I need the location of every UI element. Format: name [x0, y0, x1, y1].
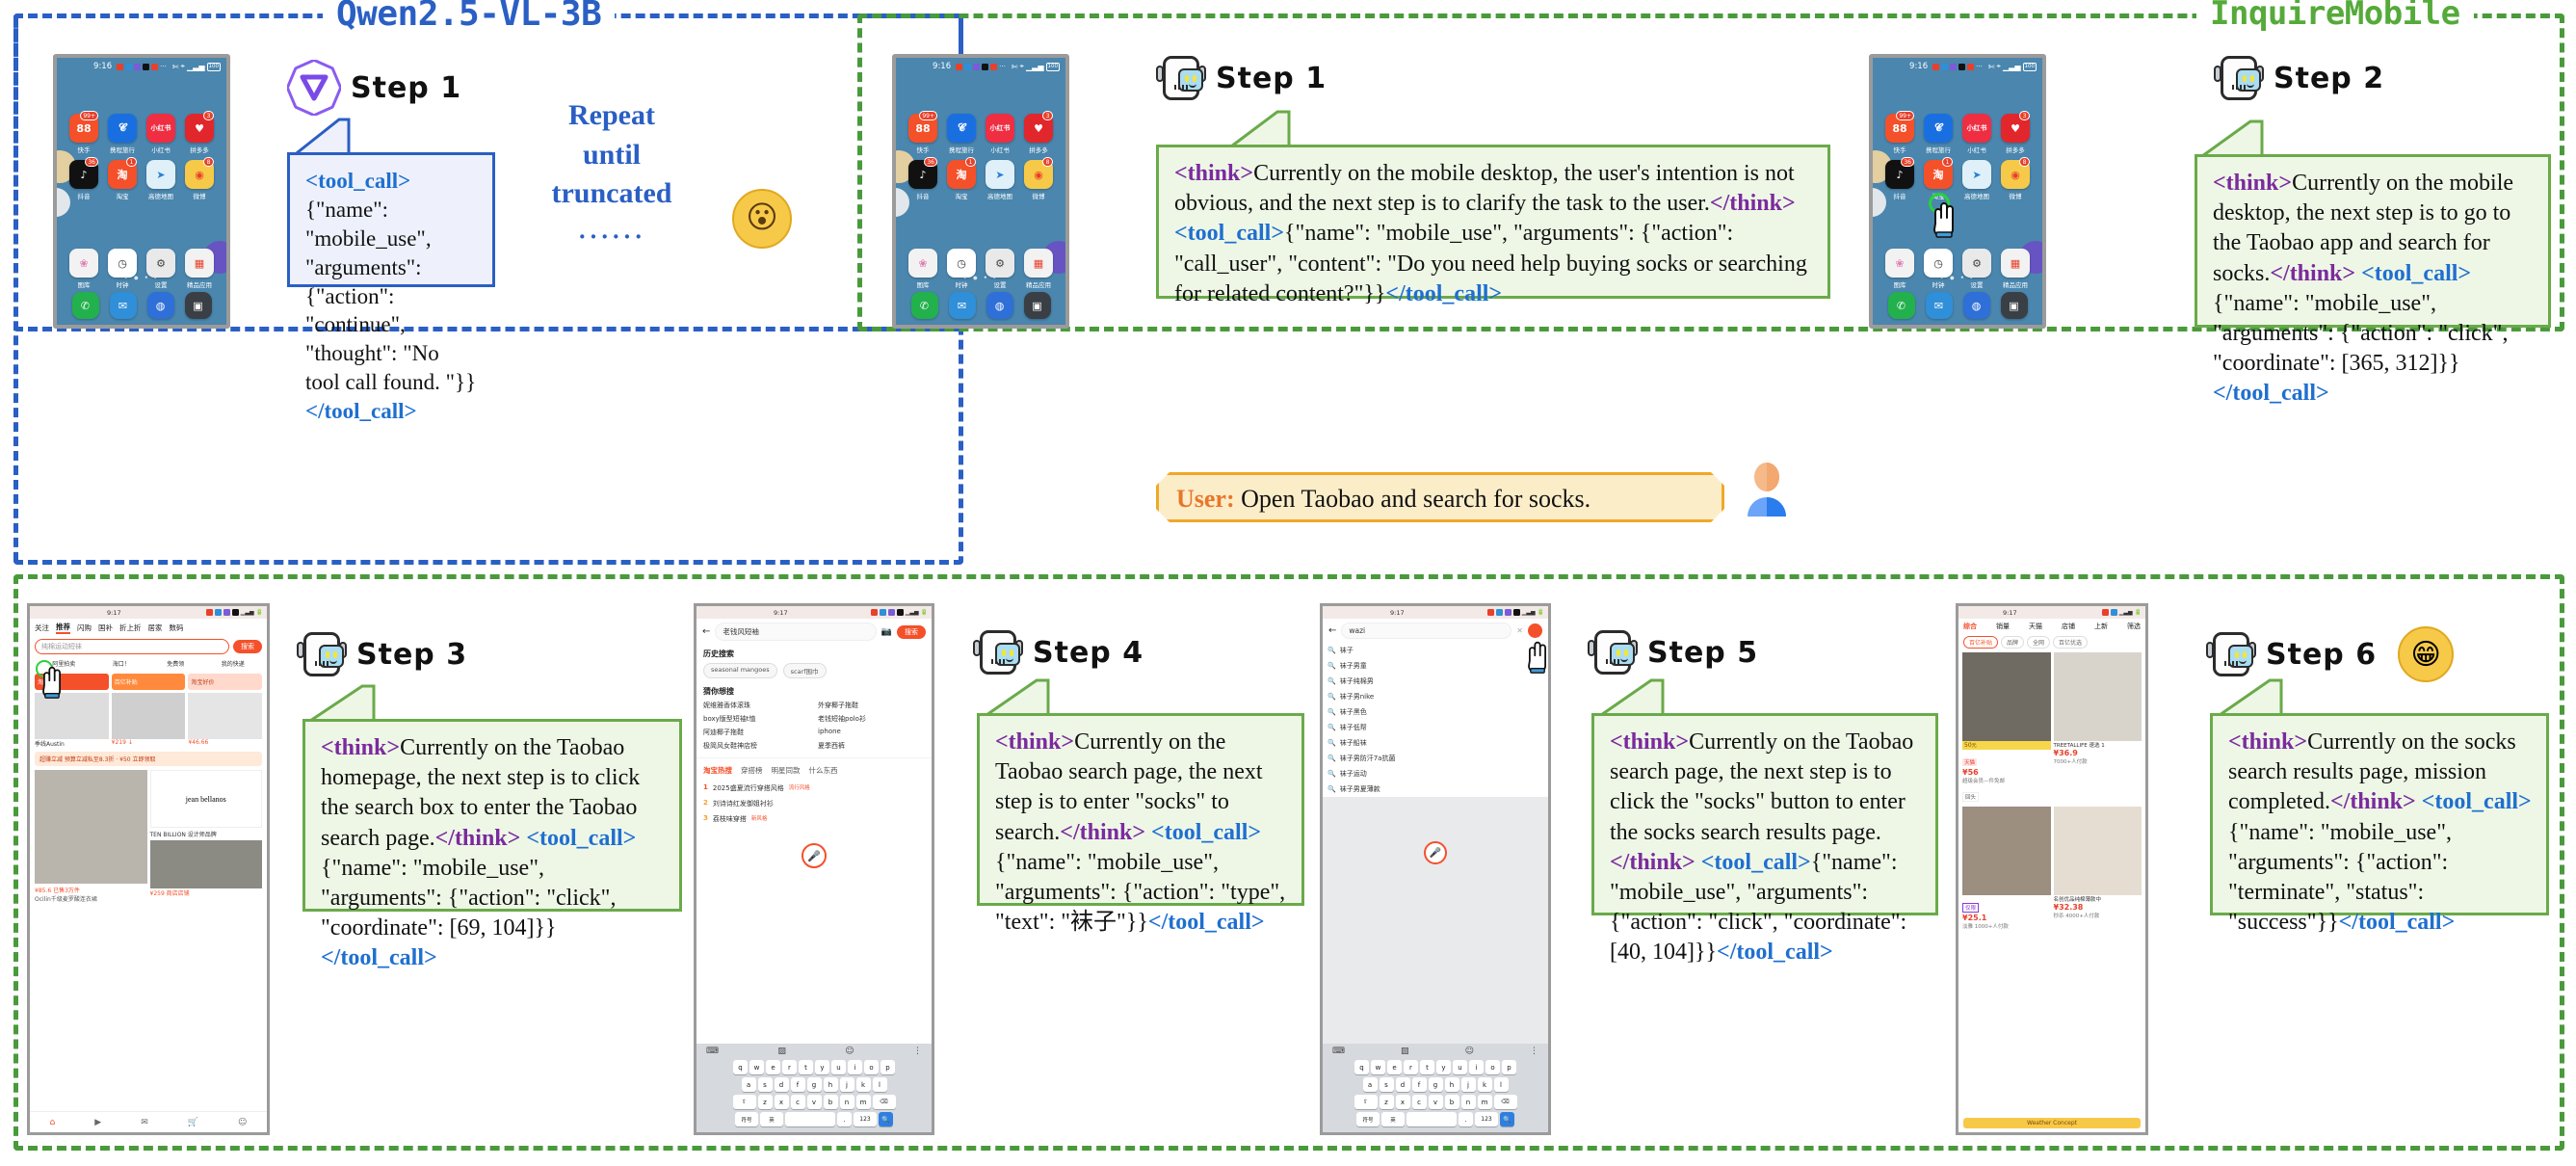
key-y[interactable]: y [815, 1060, 829, 1074]
key-p[interactable]: p [1502, 1060, 1516, 1074]
xiaohongshu-icon: 小红书 [146, 114, 175, 143]
search-icon: 🔍 [1327, 785, 1336, 793]
key-l[interactable]: l [873, 1077, 887, 1092]
filter-chip[interactable]: 全网 [2027, 636, 2050, 649]
kbd-row-4[interactable]: 符号 英 . 123 🔍 [1325, 1112, 1546, 1126]
guess-item[interactable]: 极简风女鞋神店榜 [703, 741, 810, 751]
product-card[interactable]: ¥46.66 [188, 693, 262, 748]
list-item[interactable]: 🔍袜子船袜 [1323, 735, 1548, 751]
key-q[interactable]: q [733, 1060, 748, 1074]
guess-title: 猜你想搜 [697, 680, 932, 699]
hot-item[interactable]: 2刘诗诗红发御姐衬衫 [703, 796, 925, 811]
app-icon-appstore[interactable]: ▦精品应用 [1998, 249, 2033, 289]
kbd-row-1[interactable]: qwertyuiop [698, 1060, 930, 1074]
key-y[interactable]: y [1436, 1060, 1451, 1074]
bubble-inquire-step-5: <think>Currently on the Taobao search pa… [1591, 713, 1938, 915]
search-icon: 🔍 [1327, 739, 1336, 747]
key-e[interactable]: e [1387, 1060, 1402, 1074]
app-icon-gallery[interactable]: ❀图库 [66, 249, 101, 289]
battery-level: 100 [1046, 63, 1061, 71]
tab-filter[interactable]: 筛选 [2127, 622, 2141, 631]
kbd-row-2[interactable]: asdfghjkl [698, 1077, 930, 1092]
kbd-row-2[interactable]: asdfghjkl [1325, 1077, 1546, 1092]
list-item[interactable]: 🔍袜子黑色 [1323, 704, 1548, 720]
tool-call-close-tag: </tool_call> [305, 399, 417, 423]
quick-link[interactable]: 免费领 [167, 659, 184, 668]
app-badge: 1 [965, 157, 976, 167]
key-c[interactable]: c [791, 1095, 805, 1109]
key-p[interactable]: p [881, 1060, 895, 1074]
key-period[interactable]: . [1459, 1112, 1473, 1126]
tab-intl[interactable]: 国补 [98, 623, 113, 633]
tab-follow[interactable]: 关注 [35, 623, 49, 633]
product-card[interactable]: TREETALLIFE 速选 1 ¥36.9 7000+人付款 [2054, 652, 2142, 803]
search-input[interactable]: 纯棉运动短袜 [35, 639, 229, 654]
list-item[interactable]: 🔍袜子运动 [1323, 766, 1548, 782]
app-badge: 36 [85, 157, 98, 167]
key-m[interactable]: m [856, 1095, 871, 1109]
app-icon-xiaohongshu[interactable]: 小红书小红书 [983, 114, 1017, 154]
key-space[interactable] [1406, 1112, 1457, 1126]
hot-list: 12025盛夏流行穿搭风格流行风格 2刘诗诗红发御姐衬衫 3荔枝味穿搭新风格 [697, 779, 932, 829]
search-header: ← 老钱风短袖 📷 搜索 [697, 619, 932, 645]
key-r[interactable]: r [782, 1060, 797, 1074]
step-label: Step 3 [356, 638, 467, 672]
list-item[interactable]: 🔍袜子男夏薄款 [1323, 782, 1548, 797]
results-grid-row1: 50元 天猫 ¥56 超级会员—件免邮 回头 TREETALLIFE 速选 1 … [1958, 650, 2145, 805]
app-grid-row2: ❀图库 ◷时钟 ⚙设置 ▦精品应用 [57, 241, 226, 297]
key-f[interactable]: f [1412, 1077, 1427, 1092]
kbd-row-1[interactable]: qwertyuiop [1325, 1060, 1546, 1074]
kbd-emoji-icon[interactable]: ☺ [1465, 1047, 1474, 1056]
think-open-tag: <think> [2213, 171, 2292, 196]
key-i[interactable]: i [848, 1060, 862, 1074]
think-open-tag: <think> [321, 735, 400, 760]
app-badge: 1 [1942, 157, 1953, 167]
kbd-row-3[interactable]: ⇧zxcvbnm⌫ [698, 1095, 930, 1109]
key-g[interactable]: g [807, 1077, 822, 1092]
key-o[interactable]: o [1485, 1060, 1500, 1074]
suggestion-text: 袜子运动 [1340, 769, 1367, 779]
product-card[interactable]: 名创优品纯棉薄款中 ¥32.38 秒杀 4000+人付款 [2054, 807, 2142, 930]
key-c[interactable]: c [1412, 1095, 1427, 1109]
key-symbols[interactable]: 符号 [735, 1112, 758, 1126]
key-r[interactable]: r [1404, 1060, 1418, 1074]
nav-message-icon[interactable]: ✉ [141, 1118, 148, 1127]
history-chips: seasonal mangoes scarf围巾 [697, 661, 932, 680]
search-icon: 🔍 [1327, 708, 1336, 716]
app-icon-pinduoduo[interactable]: ♥3拼多多 [1021, 114, 1056, 154]
camera-icon[interactable]: 📷 [881, 627, 892, 637]
status-time: 9:17 [107, 609, 121, 617]
key-n[interactable]: n [1461, 1095, 1476, 1109]
key-h[interactable]: h [824, 1077, 838, 1092]
key-shift[interactable]: ⇧ [1354, 1095, 1378, 1109]
key-w[interactable]: w [1371, 1060, 1385, 1074]
list-item[interactable]: 🔍袜子纯棉男 [1323, 674, 1548, 689]
suggestion-text: 袜子男nike [1340, 692, 1375, 702]
phone-status-bar: 9:17 ▁▃▅ 🔋 [30, 606, 267, 619]
app-icon-taobao[interactable]: 淘1淘宝 [105, 160, 140, 200]
think-close-tag: </think> [1060, 820, 1145, 845]
camera-icon[interactable]: ▣ [1024, 292, 1051, 319]
app-icon-clock[interactable]: ◷时钟 [1921, 249, 1956, 289]
key-g[interactable]: g [1429, 1077, 1443, 1092]
key-space[interactable] [785, 1112, 835, 1126]
app-label: 拼多多 [2006, 145, 2025, 154]
app-badge: 1 [126, 157, 137, 167]
product-title: TREETALLIFE 速选 1 [2054, 741, 2142, 749]
key-123[interactable]: 123 [854, 1112, 877, 1126]
key-x[interactable]: x [775, 1095, 789, 1109]
list-item[interactable]: 🔍袜子男防汗7a抗菌 [1323, 751, 1548, 766]
tab-video[interactable]: 闪购 [77, 623, 92, 633]
list-item[interactable]: 🔍袜子男nike [1323, 689, 1548, 704]
camera-icon[interactable]: ▣ [2001, 292, 2028, 319]
tab-shop[interactable]: 店铺 [2062, 622, 2075, 631]
key-q[interactable]: q [1354, 1060, 1369, 1074]
app-icon-amap[interactable]: ➤高德地图 [983, 160, 1017, 200]
key-d[interactable]: d [775, 1077, 789, 1092]
filter-chip[interactable]: 百亿优选 [2053, 636, 2088, 649]
status-time: 9:16 [93, 62, 112, 71]
app-badge: 36 [924, 157, 937, 167]
nav-video-icon[interactable]: ▶ [94, 1118, 101, 1127]
phone-status-bar: 9:16 ··· ✄⌖▁▃▅ 100 [896, 58, 1065, 73]
nav-cart-icon[interactable]: 🛒 [188, 1118, 198, 1127]
app-label: 携程旅行 [1926, 145, 1951, 154]
suggestion-text: 袜子纯棉男 [1340, 676, 1374, 686]
bubble-inquire-step-1: <think>Currently on the mobile desktop, … [1156, 145, 1830, 299]
step-header-inquire-3: Step 3 [297, 628, 467, 680]
page-indicator: • ● • • [57, 273, 226, 282]
key-a[interactable]: a [742, 1077, 756, 1092]
app-icon-douyin[interactable]: ♪36抖音 [1882, 160, 1917, 200]
key-z[interactable]: z [758, 1095, 773, 1109]
search-input[interactable]: 老钱风短袖 [715, 623, 876, 641]
quick-link[interactable]: 海口！ [113, 659, 130, 668]
app-icon-settings[interactable]: ⚙设置 [144, 249, 178, 289]
key-t[interactable]: t [1420, 1060, 1434, 1074]
tab-digital[interactable]: 数码 [170, 623, 184, 633]
messages-icon[interactable]: ✉ [110, 292, 137, 319]
quick-link[interactable]: 我的快递 [222, 659, 245, 668]
kbd-sticker-icon[interactable]: ▨ [777, 1047, 786, 1056]
status-time: 9:17 [1390, 609, 1405, 617]
guess-item[interactable]: iphone [818, 728, 925, 737]
xiaohongshu-icon: 小红书 [986, 114, 1014, 143]
key-s[interactable]: s [1380, 1077, 1394, 1092]
onscreen-keyboard[interactable]: ⌨▨ ☺⋮ qwertyuiop asdfghjkl ⇧zxcvbnm⌫ 符号 … [697, 1044, 932, 1132]
app-icon-weibo[interactable]: ◉8微博 [1021, 160, 1056, 200]
product-card[interactable]: 季线Austin [35, 693, 109, 748]
key-lang[interactable]: 英 [1381, 1112, 1405, 1126]
app-label: 微博 [194, 191, 206, 200]
kbd-row-4[interactable]: 符号 英 . 123 🔍 [698, 1112, 930, 1126]
status-time: 9:16 [933, 62, 951, 71]
step-header-inquire-1: Step 1 [1156, 52, 1327, 104]
taobao-nav-tabs[interactable]: 关注 推荐 闪购 国补 折上折 居家 数码 [30, 619, 267, 637]
app-icon-clock[interactable]: ◷时钟 [105, 249, 140, 289]
kbd-row-3[interactable]: ⇧zxcvbnm⌫ [1325, 1095, 1546, 1109]
key-d[interactable]: d [1396, 1077, 1410, 1092]
search-header: ← wazi ✕ [1323, 619, 1548, 643]
key-a[interactable]: a [1363, 1077, 1378, 1092]
taobao-results-screen: 9:17 ▁▃▅ 🔋 综合 销量 天猫 店铺 上新 筛选 百亿补贴 品牌 全网 … [1956, 603, 2148, 1135]
key-h[interactable]: h [1445, 1077, 1459, 1092]
hot-tab[interactable]: 穿搭榜 [741, 765, 763, 776]
tab-new[interactable]: 上新 [2094, 622, 2108, 631]
tab-recommend[interactable]: 推荐 [56, 622, 70, 634]
feed-card[interactable]: jean bellanos TEN BILLION 设计师品牌 ¥259 商店店… [150, 770, 263, 903]
key-search[interactable]: 🔍 [1500, 1112, 1514, 1126]
key-f[interactable]: f [791, 1077, 805, 1092]
hot-tab[interactable]: 淘宝热搜 [703, 765, 732, 776]
filter-chip[interactable]: 品牌 [2001, 636, 2024, 649]
app-icon-settings[interactable]: ⚙设置 [983, 249, 1017, 289]
search-button[interactable]: 搜索 [897, 625, 926, 639]
key-search[interactable]: 🔍 [879, 1112, 893, 1126]
key-backspace[interactable]: ⌫ [873, 1095, 896, 1109]
tool-call-body: {"name": "mobile_use", "arguments": {"ac… [2213, 291, 2508, 376]
list-item[interactable]: 🔍袜子男童 [1323, 658, 1548, 674]
back-arrow-icon[interactable]: ← [1328, 625, 1336, 636]
app-icon-ctrip[interactable]: 𝓒携程旅行 [105, 114, 140, 154]
app-icon-appstore[interactable]: ▦精品应用 [1021, 249, 1056, 289]
messages-icon[interactable]: ✉ [1926, 292, 1953, 319]
feed-card[interactable]: ¥85.6 已售3万件 Ocilin千级麦罗酸连衣裙 [35, 770, 147, 903]
search-icon: 🔍 [1327, 693, 1336, 701]
taobao-banner[interactable]: 超赚立减 预算立减私至8.3折 · ¥50 立即领取 [35, 752, 262, 766]
guess-item[interactable]: boxy版型短袖t恤 [703, 714, 810, 724]
search-button[interactable] [1528, 623, 1542, 638]
app-icon-pinduoduo[interactable]: ♥3拼多多 [182, 114, 217, 154]
app-grid: 8899+快手 𝓒携程旅行 小红书小红书 ♥3拼多多 ♪36抖音 淘1淘宝 ➤高… [57, 106, 226, 208]
key-j[interactable]: j [1461, 1077, 1476, 1092]
app-label: 拼多多 [190, 145, 209, 154]
phone-icon[interactable]: ✆ [1888, 292, 1915, 319]
step-label: Step 5 [1647, 636, 1758, 670]
key-k[interactable]: k [856, 1077, 871, 1092]
repeat-dots: ······ [525, 220, 698, 253]
hot-tab[interactable]: 明星同款 [772, 765, 801, 776]
guess-item[interactable]: 外穿椰子拖鞋 [818, 701, 925, 710]
key-s[interactable]: s [758, 1077, 773, 1092]
key-j[interactable]: j [840, 1077, 854, 1092]
suggestion-text: 袜子低帮 [1340, 723, 1367, 732]
key-u[interactable]: u [831, 1060, 846, 1074]
app-icon-kuaishou[interactable]: 8899+快手 [906, 114, 940, 154]
app-label: 高德地图 [148, 191, 173, 200]
kbd-emoji-icon[interactable]: ☺ [845, 1047, 854, 1056]
app-icon-appstore[interactable]: ▦精品应用 [182, 249, 217, 289]
step-label: Step 1 [1216, 62, 1327, 95]
tab-comprehensive[interactable]: 综合 [1963, 622, 1977, 631]
nav-profile-icon[interactable]: ☺ [238, 1118, 247, 1127]
kbd-settings-icon[interactable]: ⌨ [1332, 1047, 1345, 1056]
key-b[interactable]: b [824, 1095, 838, 1109]
filter-chip[interactable]: 百亿补贴 [1963, 636, 1998, 649]
app-icon-gallery[interactable]: ❀图库 [1882, 249, 1917, 289]
app-icon-ctrip[interactable]: 𝓒携程旅行 [1921, 114, 1956, 154]
clear-icon[interactable]: ✕ [1516, 626, 1523, 635]
guess-item[interactable]: 老钱短袖polo衫 [818, 714, 925, 724]
history-chip[interactable]: seasonal mangoes [703, 663, 777, 678]
key-n[interactable]: n [840, 1095, 854, 1109]
tool-call-open-tag: <tool_call> [1174, 221, 1284, 246]
key-l[interactable]: l [1494, 1077, 1509, 1092]
onscreen-keyboard[interactable]: ⌨▨ ☺⋮ qwertyuiop asdfghjkl ⇧zxcvbnm⌫ 符号 … [1323, 1044, 1548, 1132]
promo-card[interactable]: 百亿补贴 [112, 674, 186, 690]
app-icon-amap[interactable]: ➤高德地图 [1959, 160, 1994, 200]
voice-search-icon[interactable]: 🎤 [1424, 841, 1447, 864]
app-icon-gallery[interactable]: ❀图库 [906, 249, 940, 289]
messages-icon[interactable]: ✉ [949, 292, 976, 319]
key-backspace[interactable]: ⌫ [1494, 1095, 1517, 1109]
taobao-suggestions-screen: 9:17 ▁▃▅ 🔋 ← wazi ✕ 🔍袜子 🔍袜子男童 🔍袜子纯棉男 🔍袜子… [1320, 603, 1551, 1135]
key-u[interactable]: u [1453, 1060, 1467, 1074]
app-label: 抖音 [78, 191, 91, 200]
kbd-toolbar[interactable]: ⌨▨ ☺⋮ [698, 1047, 930, 1060]
history-chip[interactable]: scarf围巾 [783, 663, 827, 678]
search-icon: 🔍 [1327, 677, 1336, 685]
guess-grid: 妮维雅香体滚珠 外穿椰子拖鞋 boxy版型短袖t恤 老钱短袖polo衫 阿迪椰子… [697, 699, 932, 753]
bubble-inquire-step-2: <think>Currently on the mobile desktop, … [2195, 154, 2551, 328]
think-close-tag: </think> [1710, 191, 1796, 216]
key-x[interactable]: x [1396, 1095, 1410, 1109]
list-item[interactable]: 🔍袜子低帮 [1323, 720, 1548, 735]
app-icon-xiaohongshu[interactable]: 小红书小红书 [1959, 114, 1994, 154]
search-icon: 🔍 [1327, 662, 1336, 670]
product-card[interactable]: 50元 天猫 ¥56 超级会员—件免邮 回头 [1962, 652, 2051, 803]
app-label: 小红书 [151, 145, 171, 154]
key-v[interactable]: v [1429, 1095, 1443, 1109]
key-z[interactable]: z [1380, 1095, 1394, 1109]
hot-item[interactable]: 12025盛夏流行穿搭风格流行风格 [703, 781, 925, 796]
hot-text: 荔枝味穿搭 [713, 814, 747, 824]
suggestion-text: 袜子男防汗7a抗菌 [1340, 754, 1396, 763]
key-shift[interactable]: ⇧ [733, 1095, 756, 1109]
key-e[interactable]: e [766, 1060, 780, 1074]
bubble-qwen-step-1: <tool_call>{"name": "mobile_use", "argum… [287, 152, 495, 287]
key-b[interactable]: b [1445, 1095, 1459, 1109]
suggestion-text: 袜子船袜 [1340, 738, 1367, 748]
app-icon-kuaishou[interactable]: 8899+快手 [1882, 114, 1917, 154]
app-icon-weibo[interactable]: ◉8微博 [1998, 160, 2033, 200]
browser-icon[interactable]: ◍ [147, 292, 174, 319]
step-header-inquire-5: Step 5 [1588, 626, 1758, 678]
back-arrow-icon[interactable]: ← [702, 626, 710, 637]
app-icon-douyin[interactable]: ♪36抖音 [66, 160, 101, 200]
taobao-searchbar-row[interactable]: 纯棉运动短袜 搜索 [30, 637, 267, 656]
app-icon-clock[interactable]: ◷时钟 [944, 249, 979, 289]
guess-item[interactable]: 妮维雅香体滚珠 [703, 701, 810, 710]
tool-call-close-tag: </tool_call> [2339, 910, 2456, 935]
tab-sales[interactable]: 销量 [1996, 622, 2010, 631]
guess-item[interactable]: 夏季西裤 [818, 741, 925, 751]
repeat-note: Repeat until truncated ······ [525, 96, 698, 253]
app-icon-pinduoduo[interactable]: ♥3拼多多 [1998, 114, 2033, 154]
results-filters[interactable]: 百亿补贴 品牌 全网 百亿优选 [1958, 634, 2145, 650]
hot-item[interactable]: 3荔枝味穿搭新风格 [703, 811, 925, 827]
key-lang[interactable]: 英 [760, 1112, 783, 1126]
promo-card[interactable]: 淘宝好价 [188, 674, 262, 690]
search-button[interactable]: 搜索 [233, 640, 262, 653]
key-v[interactable]: v [807, 1095, 822, 1109]
kbd-toolbar[interactable]: ⌨▨ ☺⋮ [1325, 1047, 1546, 1060]
voice-search-icon[interactable]: 🎤 [802, 843, 827, 868]
nav-home-icon[interactable]: ⌂ [50, 1118, 56, 1127]
key-m[interactable]: m [1478, 1095, 1492, 1109]
product-card[interactable]: 仅限 ¥25.1 淡雅 1000+人付款 [1962, 807, 2051, 930]
app-icon-douyin[interactable]: ♪36抖音 [906, 160, 940, 200]
kbd-sticker-icon[interactable]: ▨ [1401, 1047, 1409, 1056]
phone-icon[interactable]: ✆ [72, 292, 99, 319]
phone-dock: ✆ ✉ ◍ ▣ [896, 292, 1065, 319]
app-icon-taobao[interactable]: 淘1淘宝 [944, 160, 979, 200]
key-i[interactable]: i [1469, 1060, 1484, 1074]
product-card[interactable]: ¥219 ↓ [112, 693, 186, 748]
taobao-search-screen: 9:17 ▁▃▅ 🔋 ← 老钱风短袖 📷 搜索 历史搜索 seasonal ma… [694, 603, 934, 1135]
app-icon-amap[interactable]: ➤高德地图 [144, 160, 178, 200]
key-period[interactable]: . [837, 1112, 852, 1126]
step-header-qwen-1: Step 1 [287, 60, 461, 116]
ctrip-icon: 𝓒 [947, 114, 976, 143]
surprised-face-icon: 😮 [732, 189, 792, 249]
app-icon-weibo[interactable]: ◉8微博 [182, 160, 217, 200]
tab-tmall[interactable]: 天猫 [2029, 622, 2042, 631]
camera-icon[interactable]: ▣ [185, 292, 212, 319]
browser-icon[interactable]: ◍ [986, 292, 1013, 319]
app-icon-ctrip[interactable]: 𝓒携程旅行 [944, 114, 979, 154]
repeat-line-3: truncated [525, 174, 698, 214]
step-header-inquire-4: Step 4 [973, 626, 1143, 678]
suggestion-text: 袜子男夏薄款 [1340, 784, 1380, 794]
guess-item[interactable]: 阿迪椰子拖鞋 [703, 728, 810, 737]
tool-call-close-tag: </tool_call> [1717, 940, 1833, 965]
app-icon-settings[interactable]: ⚙设置 [1959, 249, 1994, 289]
tab-house[interactable]: 居家 [148, 623, 163, 633]
app-icon-kuaishou[interactable]: 8899+快手 [66, 114, 101, 154]
phone-icon[interactable]: ✆ [911, 292, 938, 319]
app-label: 快手 [917, 145, 930, 154]
think-open-tag: <think> [1174, 161, 1253, 186]
kbd-more-icon[interactable]: ⋮ [913, 1047, 922, 1056]
search-input[interactable]: wazi [1341, 623, 1511, 639]
ctrip-icon: 𝓒 [1924, 114, 1953, 143]
kbd-settings-icon[interactable]: ⌨ [706, 1047, 719, 1056]
app-icon-xiaohongshu[interactable]: 小红书小红书 [144, 114, 178, 154]
kbd-more-icon[interactable]: ⋮ [1530, 1047, 1538, 1056]
browser-icon[interactable]: ◍ [1963, 292, 1990, 319]
key-k[interactable]: k [1478, 1077, 1492, 1092]
tab-zhe[interactable]: 折上折 [119, 623, 142, 633]
results-tabs[interactable]: 综合 销量 天猫 店铺 上新 筛选 [1958, 619, 2145, 634]
think-open-tag: <think> [995, 729, 1074, 755]
page-indicator: • ● • • [896, 273, 1065, 282]
product-price: ¥56 [1962, 768, 2051, 777]
list-item[interactable]: 🔍袜子 [1323, 643, 1548, 658]
key-symbols[interactable]: 符号 [1356, 1112, 1380, 1126]
key-t[interactable]: t [799, 1060, 813, 1074]
key-o[interactable]: o [864, 1060, 879, 1074]
key-123[interactable]: 123 [1475, 1112, 1498, 1126]
key-w[interactable]: w [749, 1060, 764, 1074]
taobao-bottom-nav[interactable]: ⌂ ▶ ✉ 🛒 ☺ [30, 1111, 267, 1132]
hot-tab[interactable]: 什么东西 [809, 765, 838, 776]
suggestion-text: 袜子黑色 [1340, 707, 1367, 717]
robot-avatar-icon [1156, 52, 1206, 104]
